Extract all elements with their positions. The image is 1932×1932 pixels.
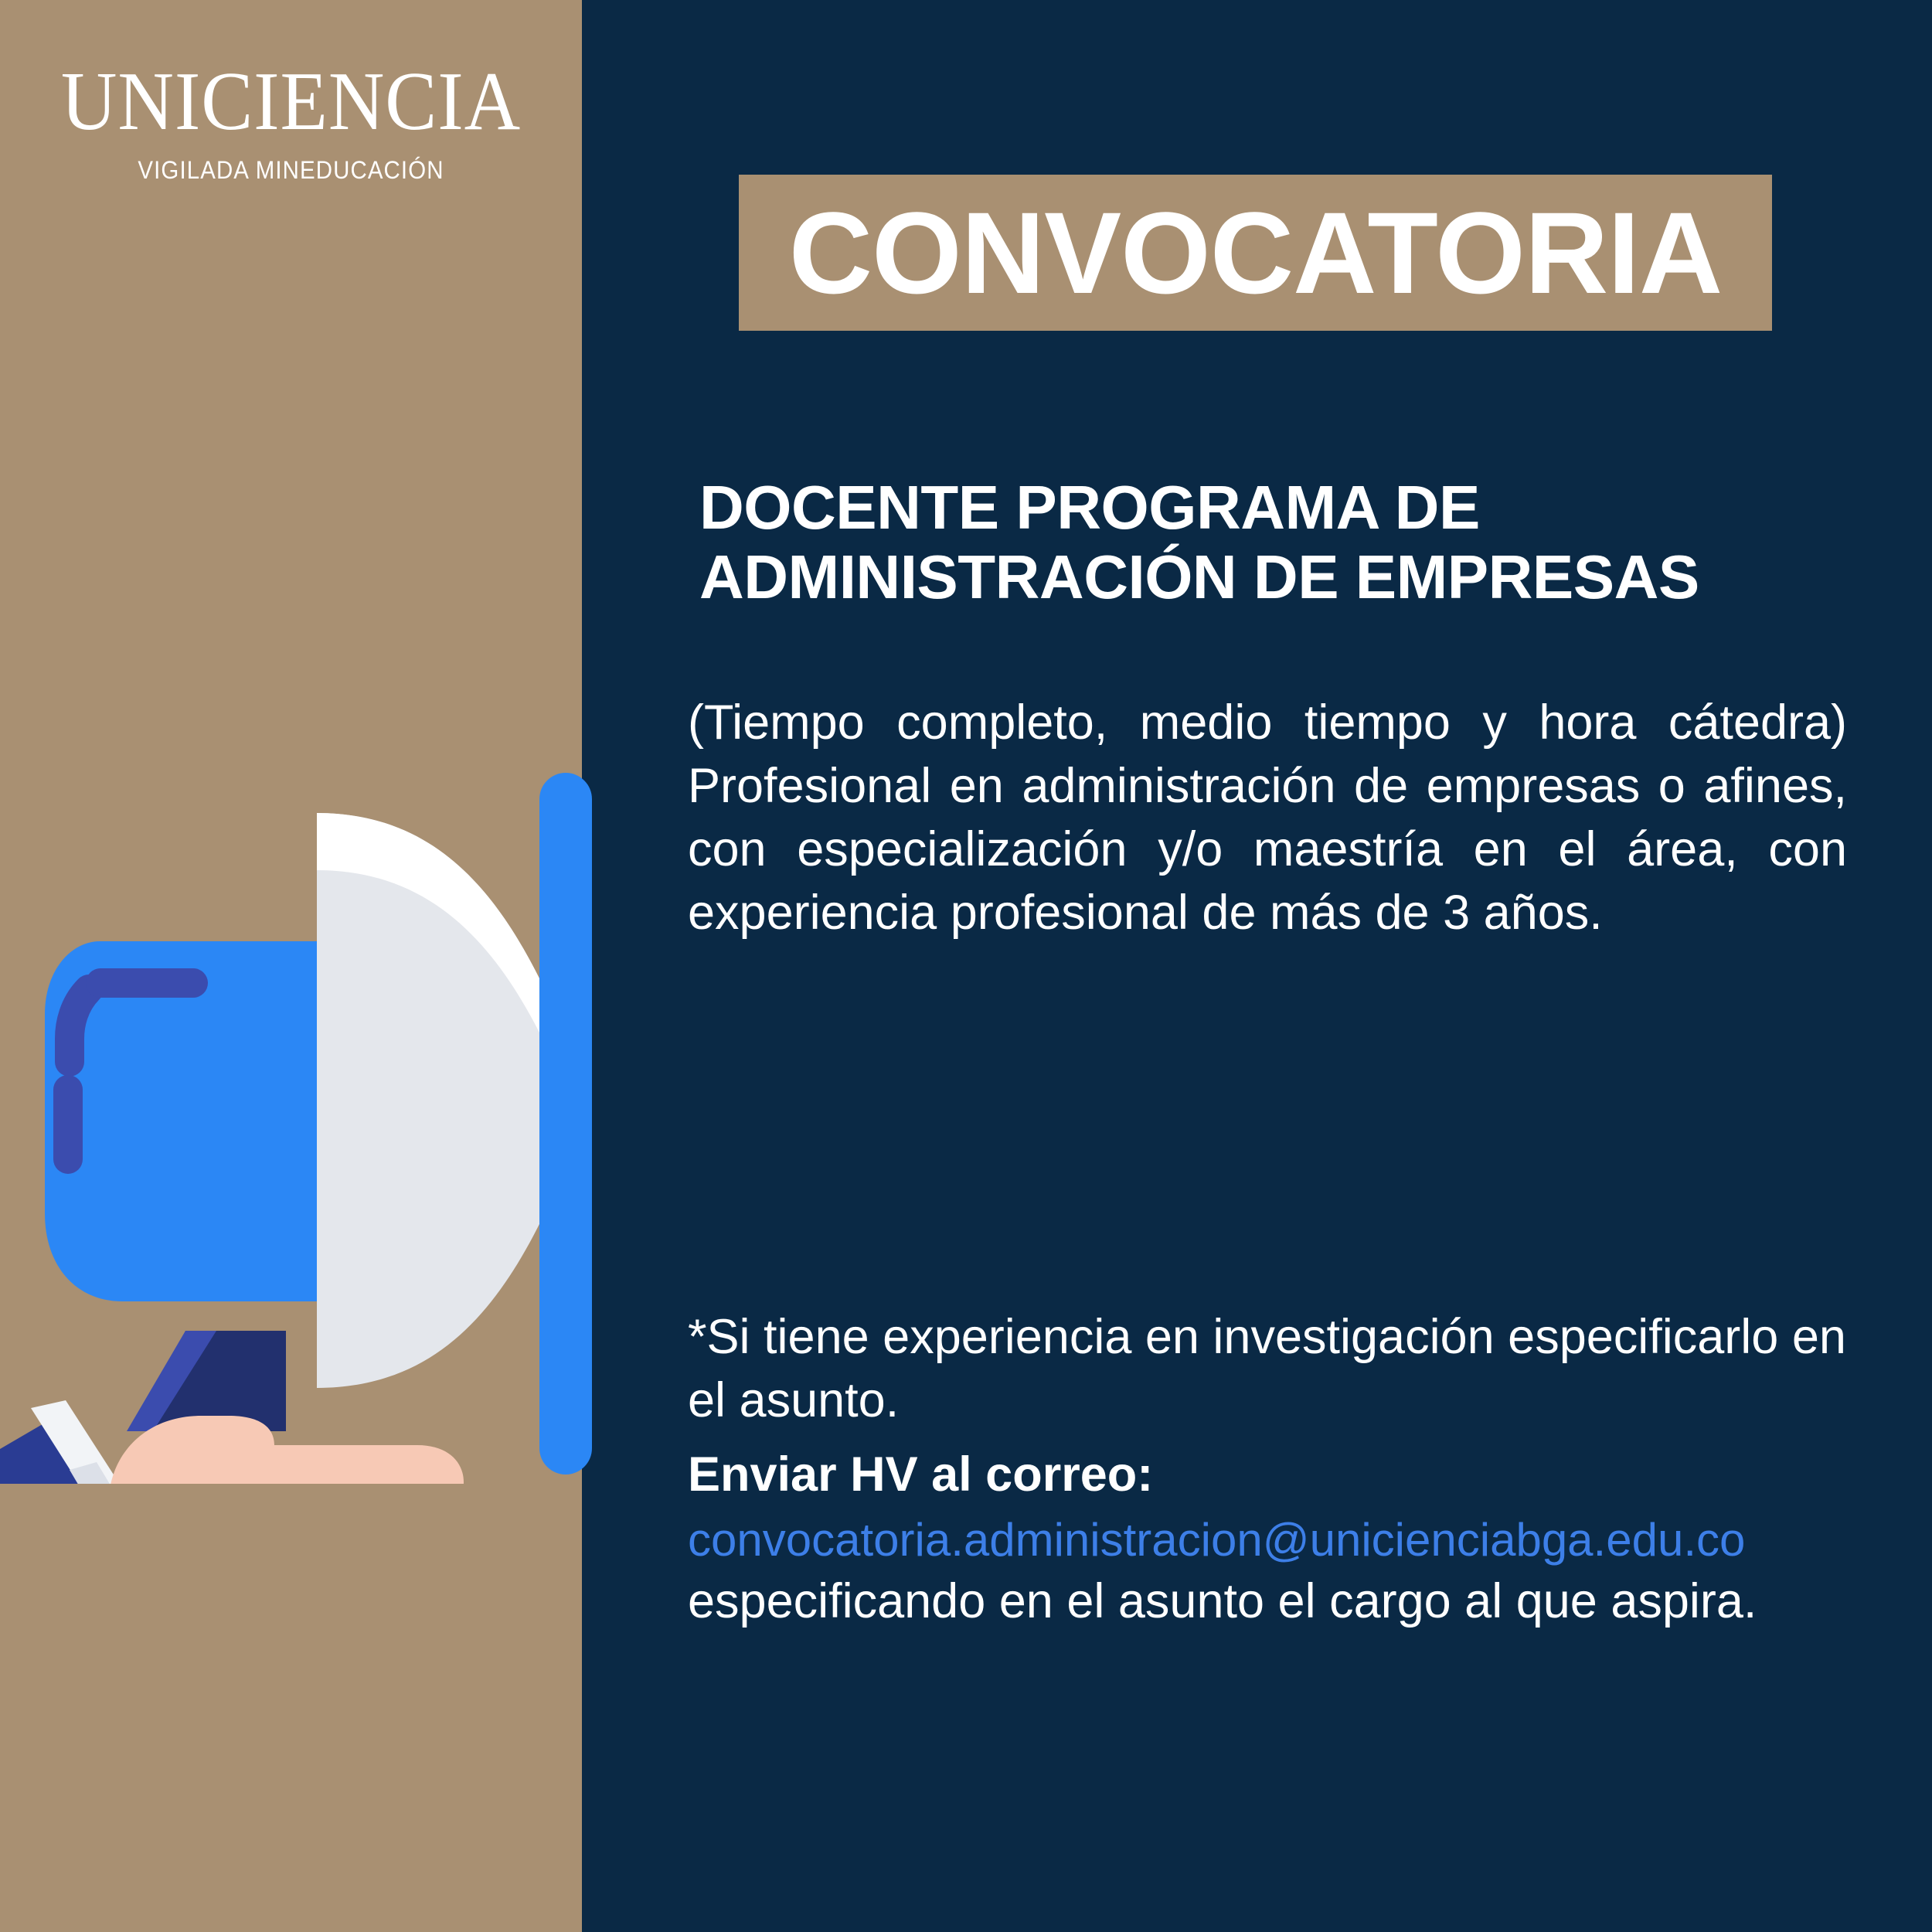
poster-canvas: UNICIENCIA VIGILADA MINEDUCACIÓN — [0, 0, 1932, 1932]
research-note: *Si tiene experiencia en investigación e… — [688, 1306, 1855, 1433]
application-instructions: *Si tiene experiencia en investigación e… — [688, 1306, 1855, 1634]
megaphone-rim — [539, 773, 592, 1475]
job-description-text: (Tiempo completo, medio tiempo y hora cá… — [688, 692, 1847, 945]
banner-title: CONVOCATORIA — [789, 195, 1722, 311]
page-title: DOCENTE PROGRAMA DE ADMINISTRACIÓN DE EM… — [699, 473, 1874, 611]
page-title-line-1: DOCENTE PROGRAMA DE — [699, 473, 1874, 543]
subject-instruction: especificando en el asunto el cargo al q… — [688, 1570, 1855, 1634]
job-description: (Tiempo completo, medio tiempo y hora cá… — [688, 692, 1847, 945]
convocatoria-banner: CONVOCATORIA — [739, 175, 1772, 331]
brand-subtitle: VIGILADA MINEDUCACIÓN — [23, 156, 559, 185]
megaphone-illustration — [0, 726, 634, 1484]
contact-email[interactable]: convocatoria.administracion@unicienciabg… — [688, 1510, 1855, 1570]
brand-logo: UNICIENCIA VIGILADA MINEDUCACIÓN — [0, 60, 582, 185]
send-cv-label: Enviar HV al correo: — [688, 1444, 1855, 1507]
page-title-line-2: ADMINISTRACIÓN DE EMPRESAS — [699, 543, 1874, 612]
brand-name: UNICIENCIA — [20, 60, 561, 144]
